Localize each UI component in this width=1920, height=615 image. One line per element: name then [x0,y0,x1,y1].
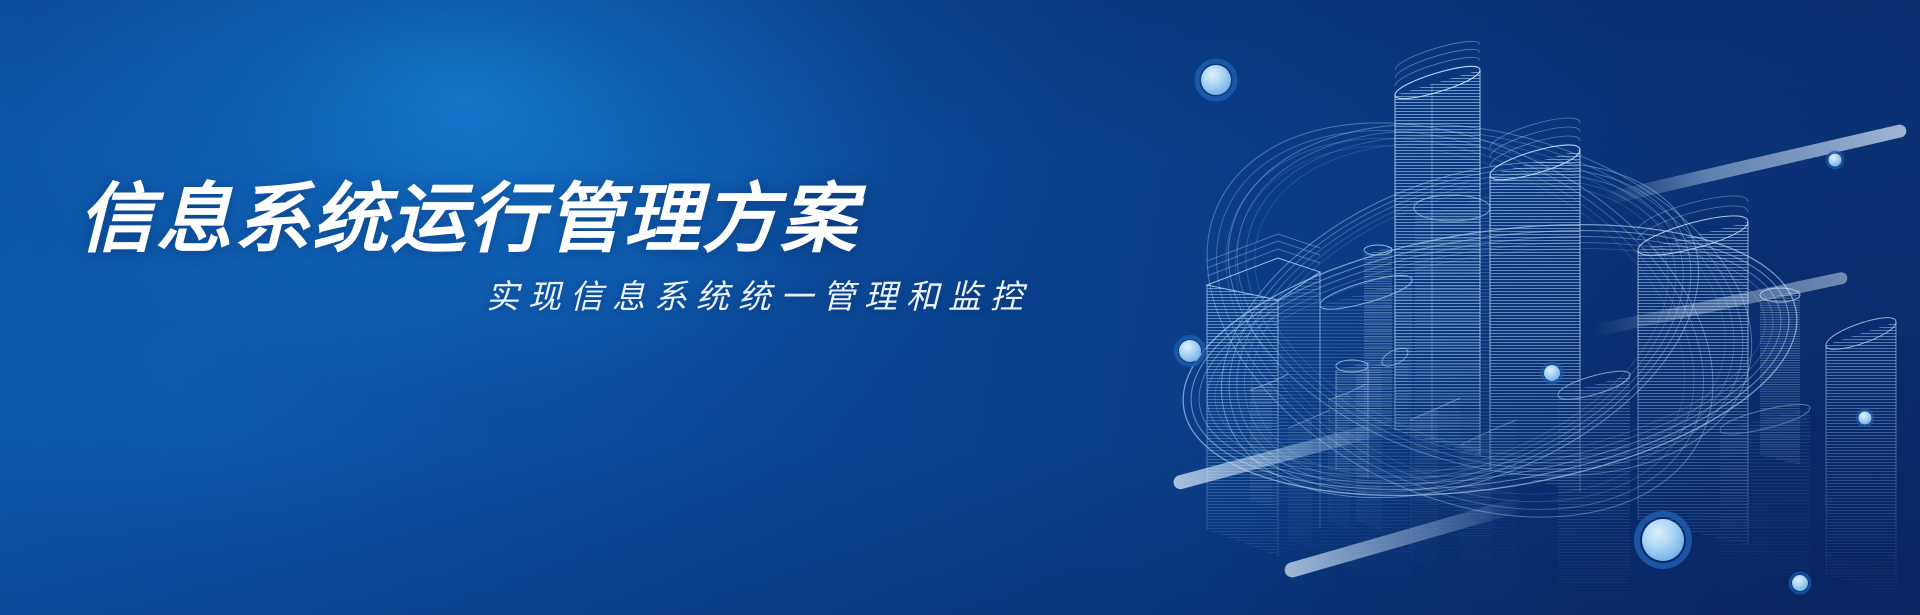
hero-banner: 信息系统运行管理方案 实现信息系统统一管理和监控 [0,0,1920,615]
banner-title: 信息系统运行管理方案 [78,180,1058,261]
banner-text-block: 信息系统运行管理方案 实现信息系统统一管理和监控 [78,180,1058,316]
banner-subtitle: 实现信息系统统一管理和监控 [78,277,1058,317]
